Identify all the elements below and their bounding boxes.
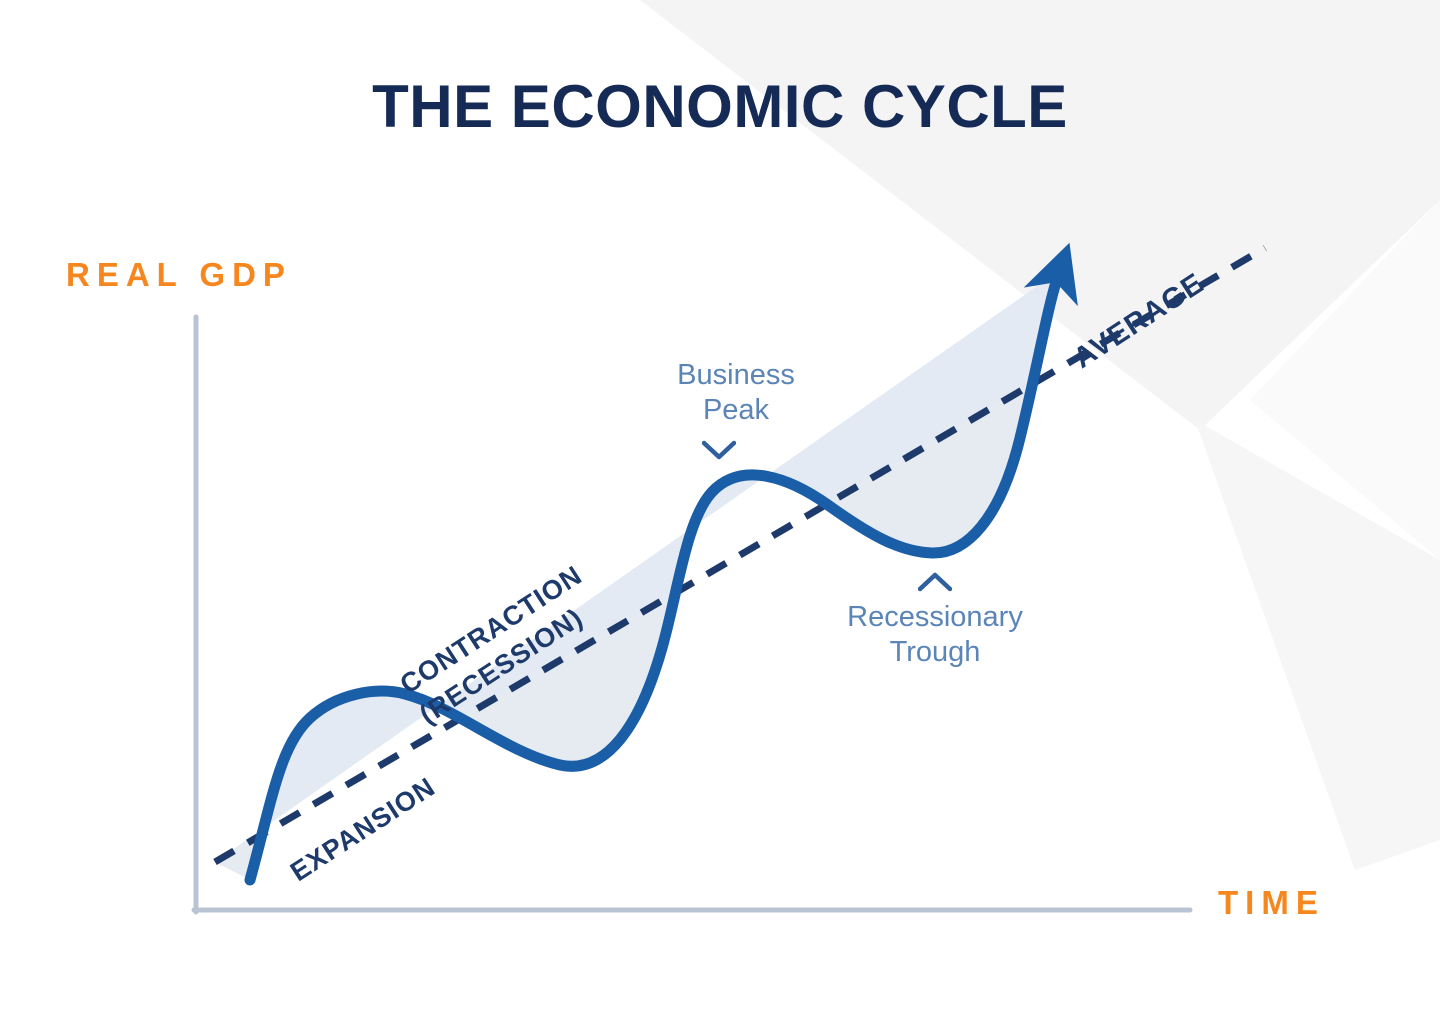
- y-axis-label: REAL GDP: [66, 256, 292, 294]
- economic-cycle-diagram: THE ECONOMIC CYCLE REAL GDP TIME Busines…: [0, 0, 1440, 1010]
- chevron-down-icon: [702, 440, 736, 460]
- business-peak-label: Business Peak: [636, 358, 836, 429]
- page-title: THE ECONOMIC CYCLE: [0, 72, 1440, 141]
- chevron-up-icon: [918, 572, 952, 592]
- chart-canvas: [0, 0, 1440, 1010]
- recessionary-trough-label: Recessionary Trough: [810, 600, 1060, 671]
- x-axis-label: TIME: [1218, 884, 1325, 922]
